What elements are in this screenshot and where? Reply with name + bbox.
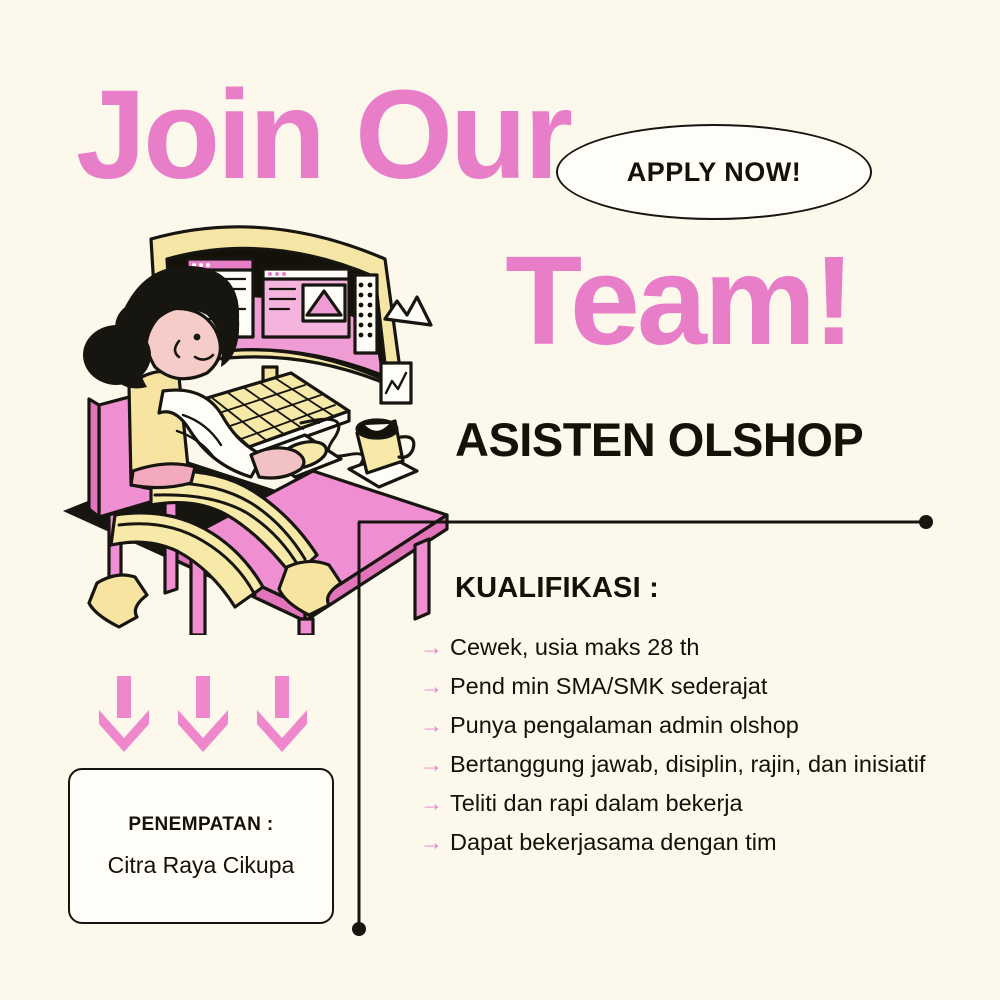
- qualification-text: Bertanggung jawab, disiplin, rajin, dan …: [450, 751, 926, 777]
- connector-dot-right: [919, 515, 933, 529]
- apply-now-badge[interactable]: APPLY NOW!: [556, 124, 872, 220]
- qualifications-heading: KUALIFIKASI :: [455, 572, 659, 605]
- list-item: → Cewek, usia maks 28 th: [420, 634, 995, 660]
- headline-line-1: Join Our: [76, 72, 570, 198]
- down-arrow-icon: [257, 676, 307, 752]
- woman-at-desk-illustration: [55, 215, 455, 635]
- qualification-text: Dapat bekerjasama dengan tim: [450, 829, 777, 855]
- list-item: → Pend min SMA/SMK sederajat: [420, 673, 995, 699]
- placement-value: Citra Raya Cikupa: [108, 852, 295, 879]
- apply-now-label: APPLY NOW!: [627, 157, 802, 188]
- list-item: → Punya pengalaman admin olshop: [420, 712, 995, 738]
- down-arrows-group: [95, 676, 315, 758]
- qualification-text: Pend min SMA/SMK sederajat: [450, 673, 767, 699]
- headline-line-2: Team!: [505, 238, 852, 364]
- down-arrow-icon: [178, 676, 228, 752]
- arrow-right-icon: →: [420, 751, 450, 777]
- qualification-text: Teliti dan rapi dalam bekerja: [450, 790, 743, 816]
- arrow-right-icon: →: [420, 790, 450, 816]
- arrow-right-icon: →: [420, 634, 450, 660]
- connector-dot-bottom: [352, 922, 366, 936]
- placement-label: PENEMPATAN :: [128, 814, 273, 836]
- list-item: → Teliti dan rapi dalam bekerja: [420, 790, 995, 816]
- placement-box: PENEMPATAN : Citra Raya Cikupa: [68, 768, 334, 924]
- job-poster: Join Our Team! APPLY NOW!: [0, 0, 1000, 1000]
- job-title: ASISTEN OLSHOP: [455, 412, 863, 467]
- down-arrow-icon: [99, 676, 149, 752]
- qualification-text: Punya pengalaman admin olshop: [450, 712, 799, 738]
- qualification-text: Cewek, usia maks 28 th: [450, 634, 699, 660]
- arrow-right-icon: →: [420, 712, 450, 738]
- list-item: → Bertanggung jawab, disiplin, rajin, da…: [420, 751, 995, 777]
- arrow-right-icon: →: [420, 829, 450, 855]
- list-item: → Dapat bekerjasama dengan tim: [420, 829, 995, 855]
- qualifications-list: → Cewek, usia maks 28 th → Pend min SMA/…: [420, 634, 995, 868]
- arrow-right-icon: →: [420, 673, 450, 699]
